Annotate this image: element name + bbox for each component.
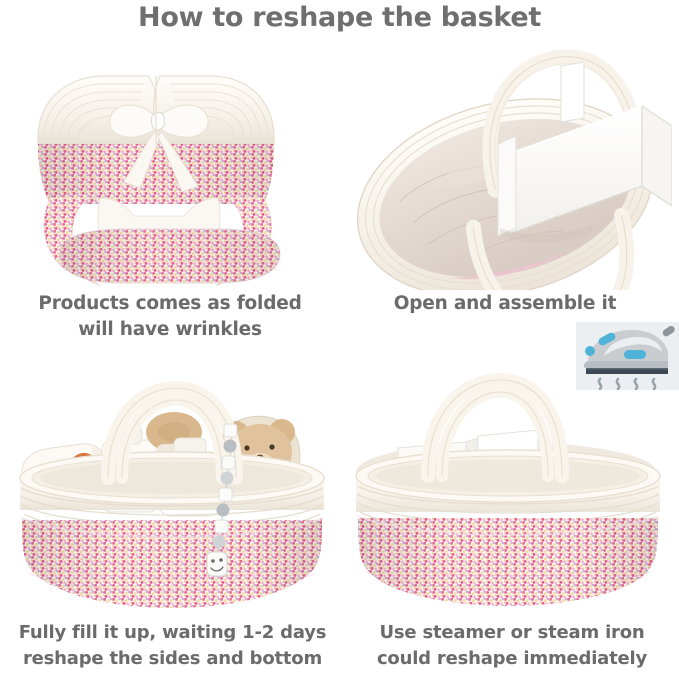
caption-step-folded: Products comes as folded will have wrink… (0, 291, 340, 343)
caption-line-2: could reshape immediately (345, 646, 679, 672)
caption-step-fill: Fully fill it up, waiting 1-2 days resha… (0, 620, 345, 672)
step-image-folded-basket (8, 48, 338, 290)
infographic-page: How to reshape the basket (0, 0, 679, 683)
caption-line-2: reshape the sides and bottom (0, 646, 345, 672)
caption-line-1: Open and assemble it (340, 291, 670, 317)
step-image-empty-basket (342, 360, 676, 612)
caption-step-steam: Use steamer or steam iron could reshape … (345, 620, 679, 672)
step-image-filled-basket (4, 360, 340, 612)
page-title: How to reshape the basket (0, 2, 679, 33)
caption-step-open: Open and assemble it (340, 291, 670, 317)
caption-line-1: Use steamer or steam iron (345, 620, 679, 646)
caption-line-1: Fully fill it up, waiting 1-2 days (0, 620, 345, 646)
caption-line-1: Products comes as folded (0, 291, 340, 317)
step-image-open-basket (340, 48, 672, 290)
caption-line-2: will have wrinkles (0, 317, 340, 343)
